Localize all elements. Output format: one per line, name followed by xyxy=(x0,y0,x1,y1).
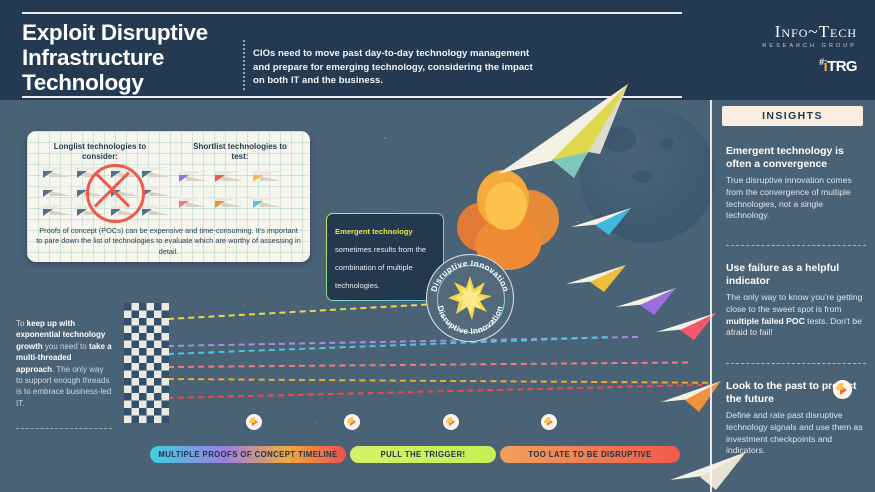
poc-shortlist-card: Longlist technologies to consider: Short… xyxy=(27,131,310,262)
logo-tagline: RESEARCH GROUP xyxy=(762,43,857,49)
mini-plane xyxy=(43,167,71,178)
mini-plane-orange xyxy=(215,197,243,208)
insight-item-failure: Use failure as a helpful indicator The o… xyxy=(726,262,866,339)
large-paper-plane xyxy=(468,82,638,202)
mini-plane xyxy=(43,205,71,216)
mini-plane xyxy=(142,205,170,216)
insight-body: True disruptive innovation comes from th… xyxy=(726,175,866,222)
paper-plane-orange xyxy=(655,378,725,423)
insight-body: Define and rate past disruptive technolo… xyxy=(726,410,866,457)
mini-plane-yellow xyxy=(253,171,281,182)
insight-divider xyxy=(726,363,866,364)
infographic-root: Exploit Disruptive Infrastructure Techno… xyxy=(0,0,875,492)
page-title: Exploit Disruptive Infrastructure Techno… xyxy=(22,20,252,95)
mini-plane-red xyxy=(215,171,243,182)
trajectory-line-pink xyxy=(168,361,688,368)
logo-itrg: #iTRG xyxy=(762,57,857,75)
mini-plane-cyan xyxy=(253,197,281,208)
insight-body-bold: multiple failed POC xyxy=(726,316,805,326)
header-rule-top xyxy=(22,12,682,14)
trajectory-line-red xyxy=(168,384,713,399)
banner-label: MULTIPLE PROOFS OF CONCEPT TIMELINE xyxy=(158,450,337,459)
badge-curved-text: Disruptive Innovation Disruptive Innovat… xyxy=(427,255,513,341)
callout-text: sometimes results from the combination o… xyxy=(335,245,426,290)
banner-label: PULL THE TRIGGER! xyxy=(380,450,465,459)
insight-body-part1: The only way to know you're getting clos… xyxy=(726,292,862,314)
longlist-heading: Longlist technologies to consider: xyxy=(45,142,155,162)
insight-body: The only way to know you're getting clos… xyxy=(726,292,866,339)
disruptive-innovation-badge: Disruptive Innovation Disruptive Innovat… xyxy=(426,254,514,342)
mini-plane xyxy=(142,167,170,178)
left-copy-part2: you need to xyxy=(43,342,89,351)
insight-title: Use failure as a helpful indicator xyxy=(726,262,866,288)
card-footer-text: Proofs of concept (POCs) can be expensiv… xyxy=(36,226,301,257)
brand-logo: Info~Tech RESEARCH GROUP #iTRG xyxy=(762,22,857,75)
timeline-banner-multiple-pocs[interactable]: MULTIPLE PROOFS OF CONCEPT TIMELINE xyxy=(150,446,346,463)
logo-itrg-rest: TRG xyxy=(827,58,857,75)
trajectory-line-orange xyxy=(168,378,708,384)
mini-plane-purple xyxy=(179,171,207,182)
insights-heading-label: INSIGHTS xyxy=(762,110,823,122)
badge-label-top: Disruptive Innovation xyxy=(429,259,510,293)
trajectory-line-yellow xyxy=(168,301,468,320)
left-copy-part1: To xyxy=(16,319,27,328)
mini-plane xyxy=(43,186,71,197)
badge-label-bottom: Disruptive Innovation xyxy=(435,305,504,336)
logo-wordmark: Info~Tech xyxy=(762,22,857,42)
paper-plane-cyan xyxy=(565,205,635,245)
insight-marker-icon xyxy=(833,380,852,399)
banner-label: TOO LATE TO BE DISRUPTIVE xyxy=(528,450,652,459)
insights-heading: INSIGHTS xyxy=(722,106,863,126)
planet-crater xyxy=(660,138,674,149)
milestone-marker[interactable] xyxy=(246,414,262,430)
milestone-marker[interactable] xyxy=(541,414,557,430)
insight-title: Emergent technology is often a convergen… xyxy=(726,145,866,171)
checkered-start-flag xyxy=(124,303,169,423)
header-dotted-divider xyxy=(243,40,245,90)
milestone-marker[interactable] xyxy=(344,414,360,430)
insight-item-convergence: Emergent technology is often a convergen… xyxy=(726,145,866,222)
shortlist-heading: Shortlist technologies to test: xyxy=(185,142,295,162)
mini-plane xyxy=(142,186,170,197)
header-bar: Exploit Disruptive Infrastructure Techno… xyxy=(0,0,875,100)
callout-keyword: Emergent technology xyxy=(335,227,413,236)
multi-threaded-copy: To keep up with exponential technology g… xyxy=(16,318,112,409)
mini-plane-pink xyxy=(179,197,207,208)
timeline-banner-too-late[interactable]: TOO LATE TO BE DISRUPTIVE xyxy=(500,446,680,463)
rejected-icon xyxy=(86,164,145,223)
insight-divider xyxy=(726,245,866,246)
timeline-banner-pull-trigger[interactable]: PULL THE TRIGGER! xyxy=(350,446,496,463)
left-copy-divider xyxy=(16,428,112,429)
milestone-marker[interactable] xyxy=(443,414,459,430)
insights-panel-divider xyxy=(710,100,712,492)
